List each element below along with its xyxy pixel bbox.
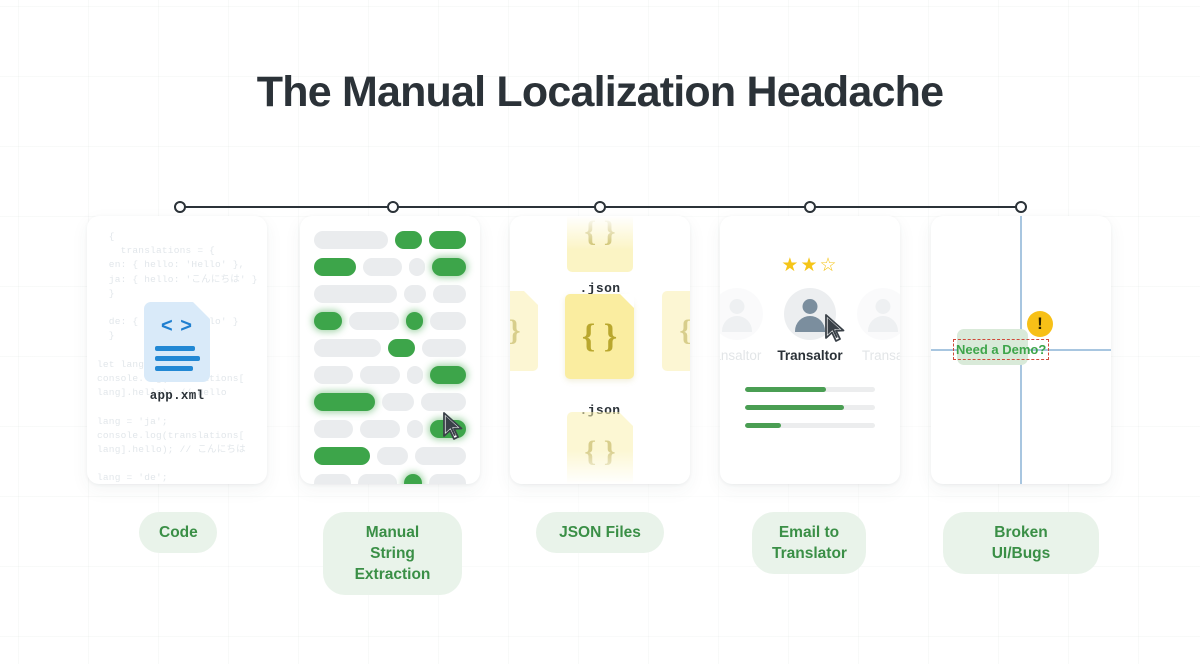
string-pill-plain[interactable]: [363, 258, 402, 276]
string-pill-extracted[interactable]: [404, 474, 422, 484]
string-pill-extracted[interactable]: [314, 447, 370, 465]
avatar-right: [857, 288, 900, 340]
avatar-head-icon: [730, 299, 745, 314]
string-pill-row: [314, 312, 466, 330]
card-broken-ui-bugs[interactable]: Need a Demo? !: [931, 216, 1111, 484]
progress-bar-track: [745, 405, 875, 410]
string-pill-plain[interactable]: [407, 366, 424, 384]
app-xml-filename: app.xml: [139, 389, 215, 403]
translator-option-center[interactable]: Transaltor: [777, 288, 842, 363]
progress-bar-track: [745, 423, 875, 428]
json-file-icon-main: { }: [565, 294, 634, 379]
json-file-icon-bottom: { }: [567, 412, 633, 484]
doc-line-2: [155, 356, 200, 361]
translator-name-left: ansaltor: [720, 348, 763, 363]
string-pill-extracted[interactable]: [432, 258, 466, 276]
avatar-body-icon: [795, 316, 825, 332]
string-pill-plain[interactable]: [314, 420, 353, 438]
string-pill-row: [314, 393, 466, 411]
json-file-icon-left: { }: [510, 291, 538, 371]
overflow-text: Need a Demo?: [953, 339, 1049, 360]
avatar-head-icon: [803, 299, 818, 314]
string-pill-plain[interactable]: [349, 312, 398, 330]
string-pill-grid: [300, 216, 480, 484]
string-pill-row: [314, 447, 466, 465]
string-pill-plain[interactable]: [314, 366, 353, 384]
string-pill-plain[interactable]: [430, 312, 466, 330]
string-pill-extracted[interactable]: [314, 312, 342, 330]
doc-line-3: [155, 366, 193, 371]
string-pill-extracted[interactable]: [388, 339, 415, 357]
string-pill-row: [314, 285, 466, 303]
card-email-to-translator[interactable]: ★★☆ ansaltor Transaltor: [720, 216, 900, 484]
label-email-to-translator[interactable]: Email to Translator: [752, 512, 866, 574]
translator-name-center: Transaltor: [777, 348, 842, 363]
string-pill-plain[interactable]: [409, 258, 425, 276]
timeline-dot-4[interactable]: [804, 201, 816, 213]
string-pill-plain[interactable]: [314, 474, 351, 484]
string-pill-plain[interactable]: [382, 393, 414, 411]
page-title: The Manual Localization Headache: [0, 62, 1200, 122]
string-pill-plain[interactable]: [360, 420, 399, 438]
timeline-dot-2[interactable]: [387, 201, 399, 213]
avatar-body-icon: [722, 316, 752, 332]
string-pill-row: [314, 231, 466, 249]
star-rating: ★★☆: [720, 256, 900, 275]
string-pill-plain[interactable]: [377, 447, 408, 465]
card-code[interactable]: { translations = { en: { hello: 'Hello' …: [87, 216, 267, 484]
star-empty-1: ☆: [820, 255, 839, 276]
warning-icon[interactable]: !: [1027, 311, 1053, 337]
translator-avatars: ansaltor Transaltor Transa: [720, 288, 900, 363]
avatar-body-icon: [868, 316, 898, 332]
string-pill-row: [314, 366, 466, 384]
translator-name-right: Transa: [857, 348, 900, 363]
string-pill-row: [314, 420, 466, 438]
app-xml-icon-group: < > app.xml: [139, 302, 215, 403]
cards-row: { translations = { en: { hello: 'Hello' …: [0, 216, 1200, 486]
json-file-stack: { } { } { } .json { } .json { }: [510, 216, 690, 484]
timeline-dot-3[interactable]: [594, 201, 606, 213]
timeline-dot-1[interactable]: [174, 201, 186, 213]
doc-line-1: [155, 346, 195, 351]
progress-bar-fill: [745, 405, 844, 410]
document-icon: < >: [144, 302, 210, 382]
string-pill-plain[interactable]: [433, 285, 466, 303]
avatar-center: [784, 288, 836, 340]
progress-bar-fill: [745, 387, 826, 392]
string-pill-plain[interactable]: [421, 393, 466, 411]
string-pill-plain[interactable]: [314, 285, 397, 303]
string-pill-row: [314, 474, 466, 484]
progress-bar-list: [745, 387, 875, 428]
label-manual-string-extraction[interactable]: Manual String Extraction: [323, 512, 462, 595]
json-file-icon-top: { }: [567, 216, 633, 272]
progress-bar-track: [745, 387, 875, 392]
avatar-left: [720, 288, 763, 340]
string-pill-extracted[interactable]: [406, 312, 423, 330]
translator-option-left[interactable]: ansaltor: [720, 288, 763, 363]
string-pill-plain[interactable]: [358, 474, 397, 484]
string-pill-extracted[interactable]: [314, 258, 356, 276]
label-code[interactable]: Code: [139, 512, 217, 553]
string-pill-row: [314, 339, 466, 357]
string-pill-plain[interactable]: [314, 339, 381, 357]
string-pill-extracted[interactable]: [429, 231, 466, 249]
string-pill-extracted[interactable]: [430, 366, 466, 384]
star-filled-2: ★: [800, 255, 819, 276]
card-labels-row: Code Manual String Extraction JSON Files…: [0, 512, 1200, 582]
json-file-icon-right: { }: [662, 291, 690, 371]
string-pill-extracted[interactable]: [395, 231, 421, 249]
string-pill-extracted[interactable]: [314, 393, 375, 411]
string-pill-plain[interactable]: [422, 339, 466, 357]
star-filled-1: ★: [781, 255, 800, 276]
label-json-files[interactable]: JSON Files: [536, 512, 664, 553]
timeline: [180, 206, 1021, 208]
label-broken-ui-bugs[interactable]: Broken UI/Bugs: [943, 512, 1099, 574]
progress-bar-fill: [745, 423, 781, 428]
string-pill-plain[interactable]: [404, 285, 426, 303]
card-manual-string-extraction[interactable]: [300, 216, 480, 484]
string-pill-extracted[interactable]: [430, 420, 466, 438]
string-pill-row: [314, 258, 466, 276]
string-pill-plain[interactable]: [429, 474, 466, 484]
code-chevron-icon: < >: [144, 315, 210, 338]
card-json-files[interactable]: { } { } { } .json { } .json { }: [510, 216, 690, 484]
avatar-head-icon: [875, 299, 890, 314]
string-pill-plain[interactable]: [415, 447, 466, 465]
translator-option-right[interactable]: Transa: [857, 288, 900, 363]
string-pill-plain[interactable]: [360, 366, 399, 384]
string-pill-plain[interactable]: [407, 420, 424, 438]
string-pill-plain[interactable]: [314, 231, 388, 249]
timeline-dot-5[interactable]: [1015, 201, 1027, 213]
